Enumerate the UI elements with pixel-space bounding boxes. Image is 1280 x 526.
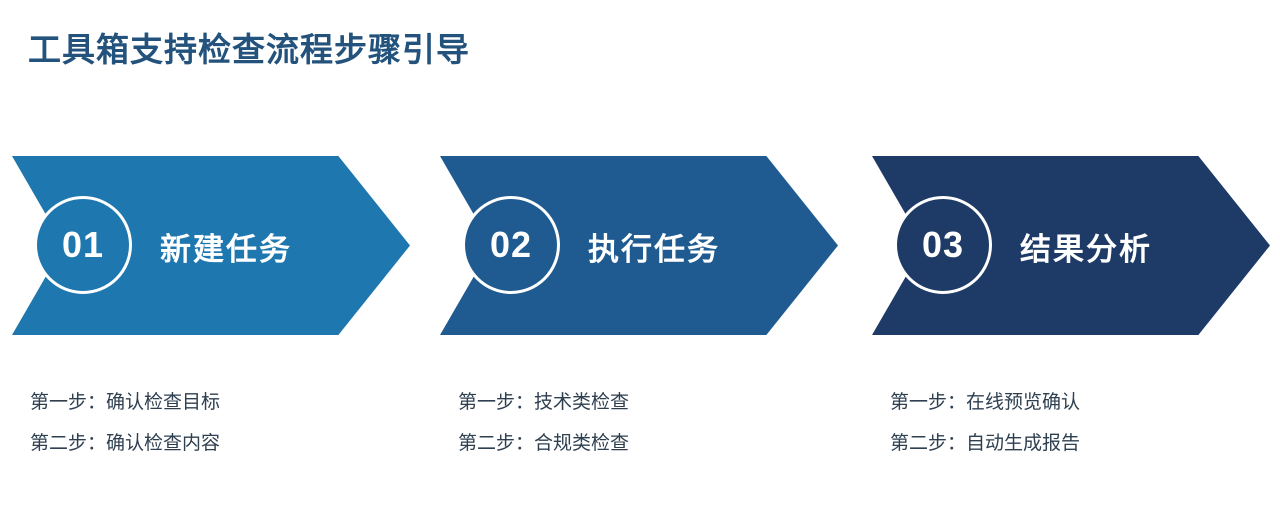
step-number-badge-1: 01 (34, 196, 132, 294)
substep-item: 第二步：合规类检查 (458, 423, 629, 464)
substep-item: 第一步：在线预览确认 (890, 382, 1080, 423)
substep-item: 第二步：确认检查内容 (30, 423, 220, 464)
step-number-1: 01 (62, 224, 104, 266)
process-step-1[interactable]: 01 新建任务 (12, 150, 410, 340)
step-title-3: 结果分析 (1020, 224, 1152, 269)
substep-list-3: 第一步：在线预览确认 第二步：自动生成报告 (890, 382, 1080, 464)
step-number-3: 03 (922, 224, 964, 266)
substep-item: 第二步：自动生成报告 (890, 423, 1080, 464)
step-number-badge-3: 03 (894, 196, 992, 294)
step-title-1: 新建任务 (160, 224, 292, 269)
step-number-badge-2: 02 (462, 196, 560, 294)
process-step-3[interactable]: 03 结果分析 (872, 150, 1270, 340)
substep-item: 第一步：技术类检查 (458, 382, 629, 423)
step-title-2: 执行任务 (588, 224, 720, 269)
page-title: 工具箱支持检查流程步骤引导 (28, 33, 470, 66)
process-step-2[interactable]: 02 执行任务 (440, 150, 838, 340)
substep-list-1: 第一步：确认检查目标 第二步：确认检查内容 (30, 382, 220, 464)
step-number-2: 02 (490, 224, 532, 266)
substep-item: 第一步：确认检查目标 (30, 382, 220, 423)
substep-list-2: 第一步：技术类检查 第二步：合规类检查 (458, 382, 629, 464)
process-flow-diagram: 01 新建任务 02 执行任务 03 结果分析 (0, 150, 1280, 346)
